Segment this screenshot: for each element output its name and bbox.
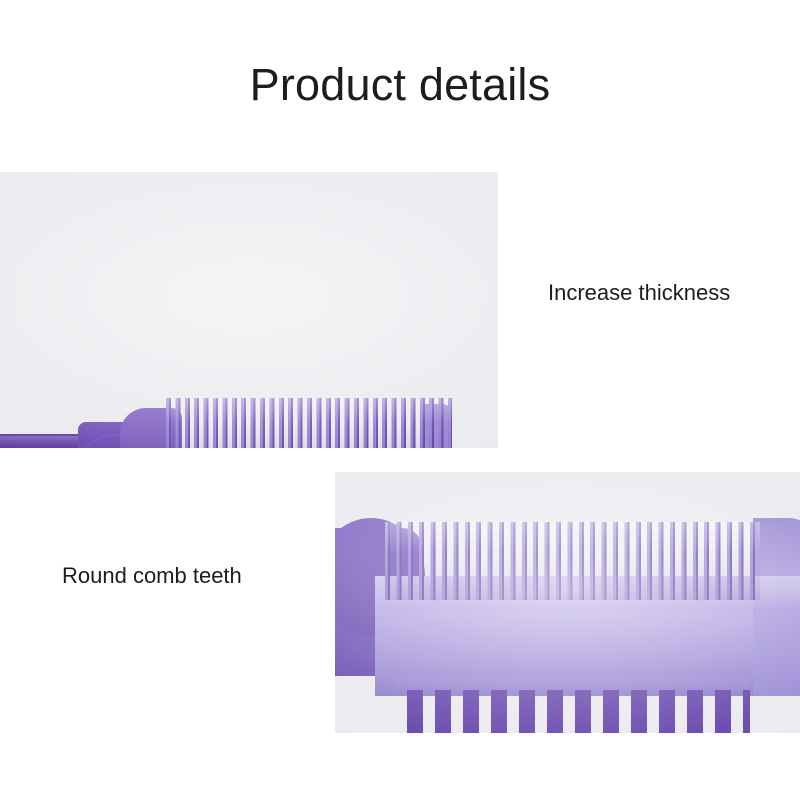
product-details-page: Product details (0, 0, 800, 800)
razor-comb-closeup (335, 472, 800, 733)
closeup-fine-teeth-row (385, 522, 760, 600)
razor-comb-full (0, 172, 498, 448)
product-photo-bottom (335, 472, 800, 733)
comb-fine-teeth-row (166, 398, 452, 448)
label-increase-thickness: Increase thickness (548, 282, 730, 304)
label-round-comb-teeth: Round comb teeth (62, 565, 242, 587)
closeup-round-teeth-cap (395, 678, 750, 690)
product-photo-top (0, 172, 498, 448)
page-title: Product details (0, 62, 800, 107)
